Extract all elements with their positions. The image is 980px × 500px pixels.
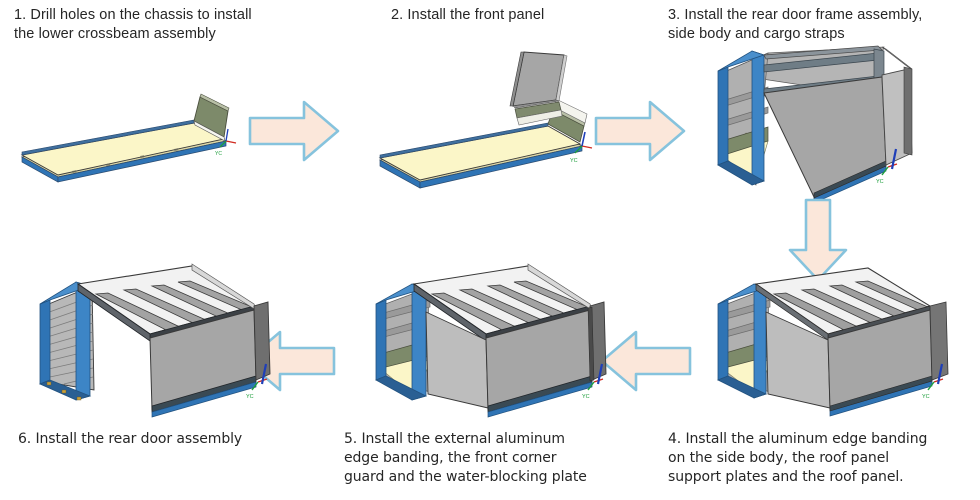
step-4-illustration: YC [696,262,961,417]
step-2-caption: 2. Install the front panel [391,6,651,25]
svg-text:YC: YC [570,158,578,164]
svg-text:YC: YC [876,179,884,185]
svg-text:YC: YC [246,394,254,400]
step-5-caption: 5. Install the external aluminum edge ba… [344,430,644,486]
step-6-illustration: YC [16,262,281,422]
step-5-illustration: YC [352,258,617,420]
step-1-caption: 1. Drill holes on the chassis to install… [14,6,334,45]
step-2-illustration: YC [378,50,608,190]
step-3-caption: 3. Install the rear door frame assembly,… [668,6,978,45]
svg-text:YC: YC [215,151,222,157]
step-6-caption: 6. Install the rear door assembly [18,430,318,449]
step-3-illustration: YC [696,45,961,200]
arrow-step2-to-step3 [592,96,688,166]
svg-text:YC: YC [922,394,930,400]
step-1-illustration: YC [10,85,250,185]
process-flow-diagram: 1. Drill holes on the chassis to install… [0,0,980,500]
svg-text:YC: YC [582,394,590,400]
arrow-step1-to-step2 [246,96,342,166]
step-4-caption: 4. Install the aluminum edge banding on … [668,430,980,486]
